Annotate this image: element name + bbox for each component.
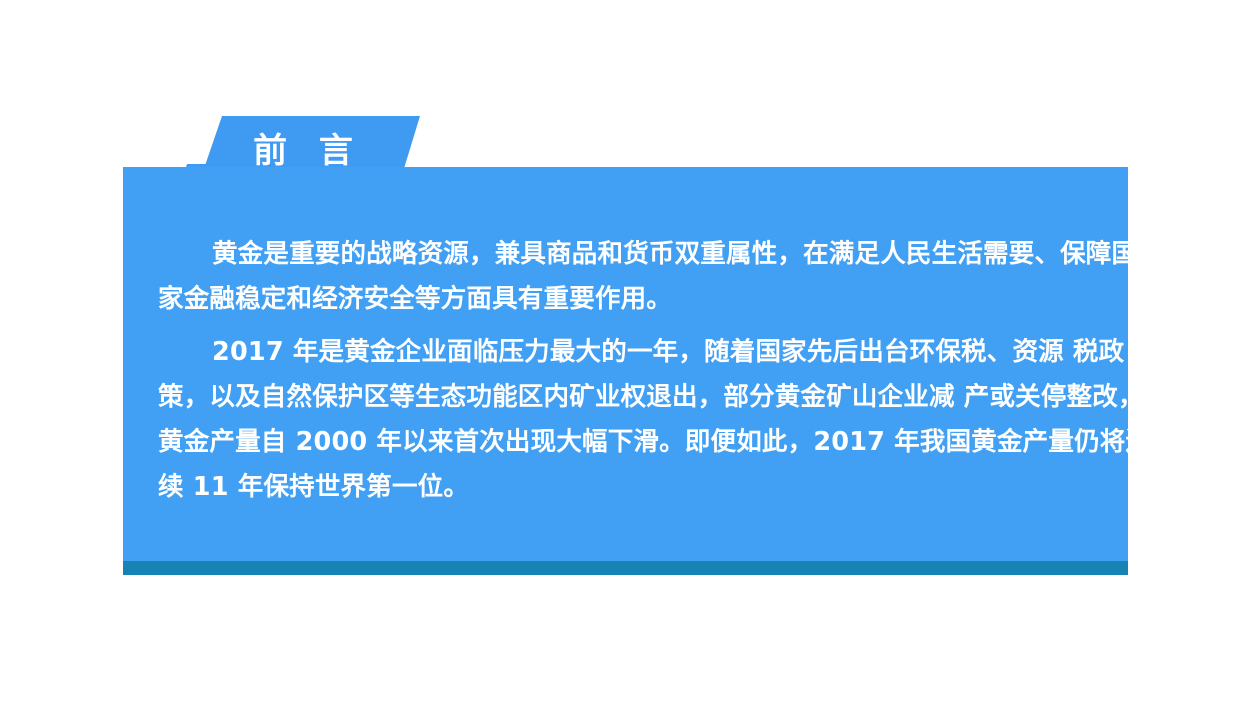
content-panel: 黄金是重要的战略资源，兼具商品和货币双重属性，在满足人民生活需要、保障国家金融稳… (123, 167, 1128, 561)
content-accent-bar (123, 561, 1128, 575)
body-text-block: 黄金是重要的战略资源，兼具商品和货币双重属性，在满足人民生活需要、保障国家金融稳… (158, 232, 1128, 510)
paragraph-2: 2017 年是黄金企业面临压力最大的一年，随着国家先后出台环保税、资源 税政策，… (158, 330, 1128, 510)
banner-title-chinese: 前 言 (186, 131, 420, 171)
slide-canvas: 前 言 Introduction 黄金是重要的战略资源，兼具商品和货币双重属性，… (0, 0, 1250, 720)
paragraph-1: 黄金是重要的战略资源，兼具商品和货币双重属性，在满足人民生活需要、保障国家金融稳… (158, 232, 1128, 322)
